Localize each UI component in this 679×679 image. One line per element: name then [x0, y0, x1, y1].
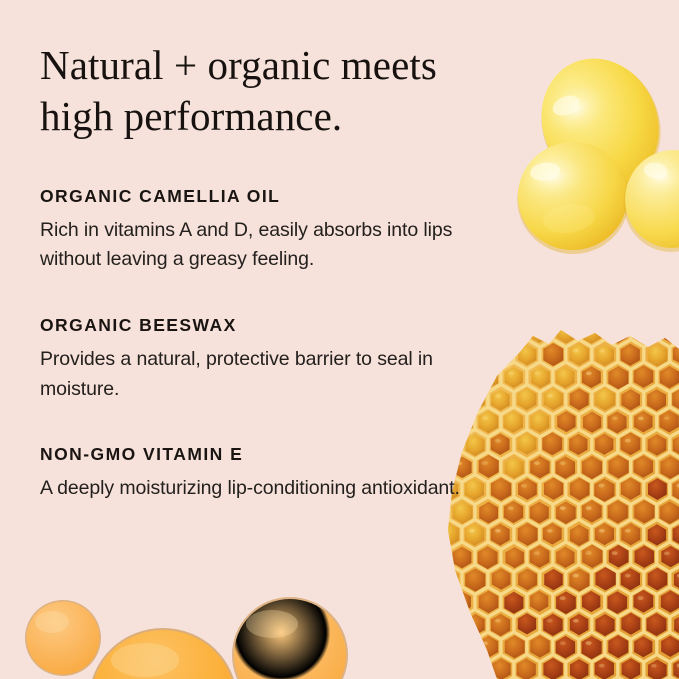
content-column: Natural + organic meets high performance…	[40, 40, 510, 504]
ingredient-item-beeswax: ORGANIC BEESWAX Provides a natural, prot…	[40, 315, 510, 404]
page-title: Natural + organic meets high performance…	[40, 40, 500, 142]
ingredient-description: Rich in vitamins A and D, easily absorbs…	[40, 216, 490, 275]
ingredient-description: A deeply moisturizing lip-conditioning a…	[40, 474, 490, 504]
ingredient-item-vitamin-e: NON-GMO VITAMIN E A deeply moisturizing …	[40, 444, 510, 504]
ingredient-poster: Natural + organic meets high performance…	[0, 0, 679, 679]
ingredient-title: ORGANIC CAMELLIA OIL	[40, 186, 510, 207]
ingredient-description: Provides a natural, protective barrier t…	[40, 345, 490, 404]
amber-droplet-group	[25, 597, 348, 679]
ingredient-title: ORGANIC BEESWAX	[40, 315, 510, 336]
ingredient-list: ORGANIC CAMELLIA OIL Rich in vitamins A …	[40, 186, 510, 504]
ingredient-item-camellia-oil: ORGANIC CAMELLIA OIL Rich in vitamins A …	[40, 186, 510, 275]
ingredient-title: NON-GMO VITAMIN E	[40, 444, 510, 465]
oil-droplet-group	[510, 39, 679, 261]
